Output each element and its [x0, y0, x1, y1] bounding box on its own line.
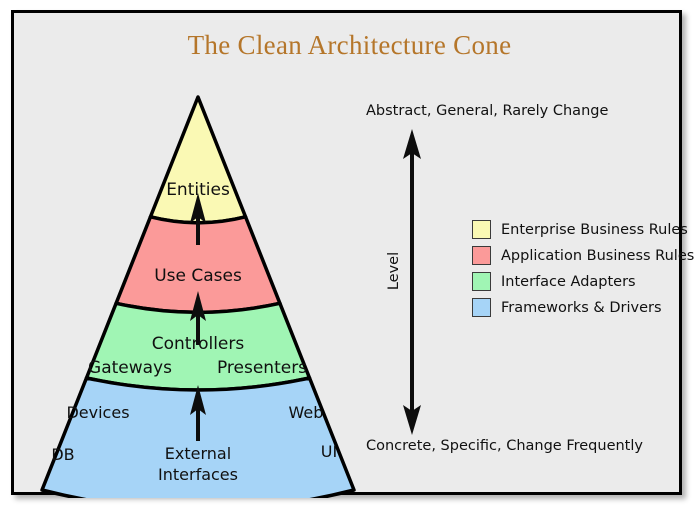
- level-axis-label: Level: [386, 241, 402, 301]
- diagram-frame: The Clean Architecture Cone EntitiesUse …: [11, 10, 682, 495]
- diagram-root: The Clean Architecture Cone EntitiesUse …: [0, 0, 700, 514]
- cone-text-devices: Devices: [66, 403, 129, 422]
- cone-text-use-cases: Use Cases: [154, 266, 242, 286]
- legend-swatch-icon-4: [472, 298, 491, 317]
- cone-text-web: Web: [289, 403, 324, 422]
- cone-svg: EntitiesUse CasesControllersGatewaysPres…: [14, 13, 374, 498]
- legend-row-4[interactable]: Frameworks & Drivers: [472, 295, 687, 320]
- axis-caption-bottom: Concrete, Specific, Change Frequently: [366, 438, 643, 454]
- cone-text-ui: UI: [321, 442, 337, 461]
- cone-text-entities: Entities: [166, 180, 230, 200]
- legend-swatch-icon-3: [472, 272, 491, 291]
- legend-label-4: Frameworks & Drivers: [501, 300, 662, 316]
- legend-label-2: Application Business Rules: [501, 248, 694, 264]
- axis-caption-top: Abstract, General, Rarely Change: [366, 103, 608, 119]
- cone-stage: EntitiesUse CasesControllersGatewaysPres…: [14, 13, 374, 498]
- legend-row-1[interactable]: Enterprise Business Rules: [472, 217, 687, 242]
- legend: Enterprise Business RulesApplication Bus…: [472, 217, 687, 321]
- level-arrow-svg: [354, 123, 474, 463]
- legend-label-3: Interface Adapters: [501, 274, 636, 290]
- cone-text-gateways: Gateways: [88, 358, 172, 378]
- cone-text-interfaces: Interfaces: [158, 465, 238, 484]
- cone-text-db: DB: [51, 445, 74, 464]
- double-headed-arrow-icon: [403, 129, 421, 435]
- legend-row-2[interactable]: Application Business Rules: [472, 243, 687, 268]
- axis-stage: Abstract, General, Rarely Change Level C…: [354, 13, 685, 498]
- cone-text-external: External: [165, 444, 231, 463]
- legend-swatch-icon-1: [472, 220, 491, 239]
- legend-row-3[interactable]: Interface Adapters: [472, 269, 687, 294]
- legend-swatch-icon-2: [472, 246, 491, 265]
- cone-text-presenters: Presenters: [217, 358, 307, 378]
- cone-text-controllers: Controllers: [152, 334, 245, 354]
- legend-label-1: Enterprise Business Rules: [501, 222, 688, 238]
